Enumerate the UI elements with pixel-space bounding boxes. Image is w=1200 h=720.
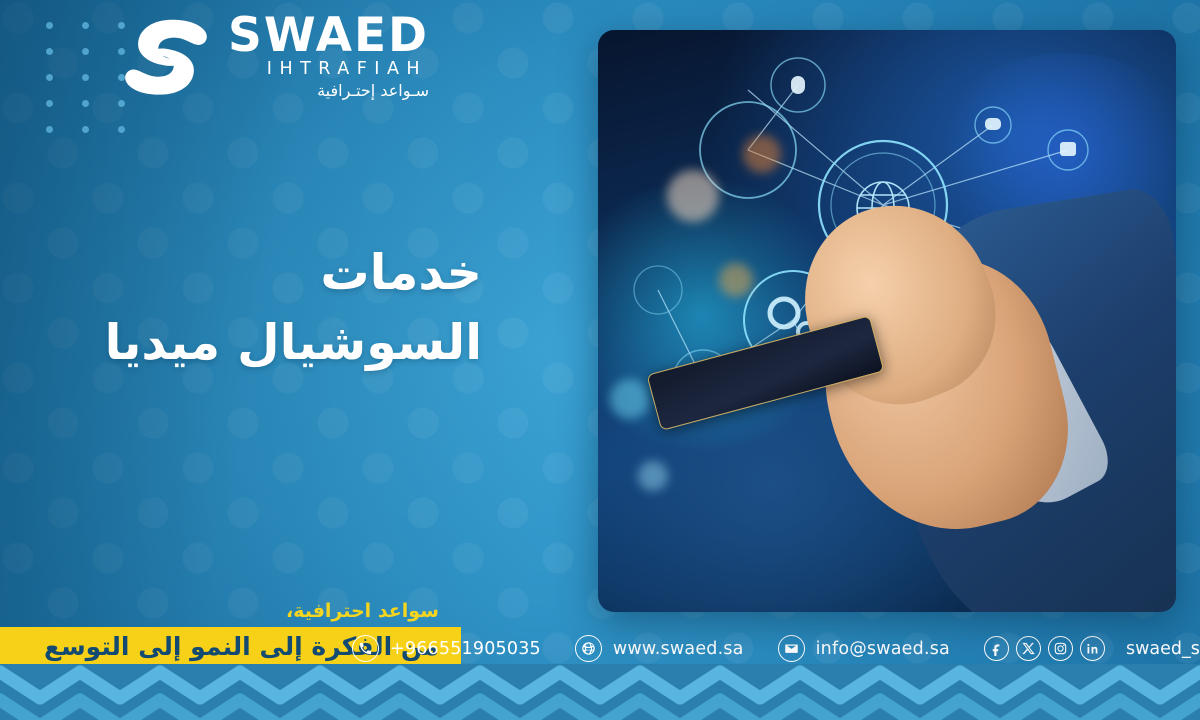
phone-number: +966551905035 xyxy=(390,639,541,659)
brand-subtitle-en: IHTRAFIAH xyxy=(267,59,429,81)
decorative-dot xyxy=(46,74,53,81)
phone-icon xyxy=(352,635,379,662)
linkedin-icon[interactable] xyxy=(1080,636,1105,661)
x-twitter-icon[interactable] xyxy=(1016,636,1041,661)
hero-photo xyxy=(598,30,1176,612)
interlocking-hands-s-logo-icon xyxy=(118,15,214,99)
chevron-pattern xyxy=(0,664,1200,720)
contact-social: swaed_sa xyxy=(984,636,1200,661)
decorative-dot xyxy=(82,126,89,133)
contact-phone[interactable]: +966551905035 xyxy=(352,635,541,662)
instagram-icon[interactable] xyxy=(1048,636,1073,661)
hand-holding-phone xyxy=(598,30,1176,612)
decorative-dot xyxy=(46,100,53,107)
decorative-dot xyxy=(46,126,53,133)
contact-email[interactable]: info@swaed.sa xyxy=(778,635,950,662)
email-address: info@swaed.sa xyxy=(816,639,950,659)
chevron-decoration-band xyxy=(0,664,1200,720)
brand-subtitle-ar: سـواعد إحتـرافية xyxy=(317,81,429,102)
decorative-dot xyxy=(118,126,125,133)
promotional-banner: SWAED IHTRAFIAH سـواعد إحتـرافية خدمات ا… xyxy=(0,0,1200,720)
headline: خدمات السوشيال ميديا xyxy=(105,238,482,377)
headline-line-2: السوشيال ميديا xyxy=(105,308,482,378)
brand-logo: SWAED IHTRAFIAH سـواعد إحتـرافية xyxy=(118,12,429,101)
facebook-icon[interactable] xyxy=(984,636,1009,661)
decorative-dot xyxy=(82,22,89,29)
decorative-dot xyxy=(82,100,89,107)
decorative-dot xyxy=(46,22,53,29)
envelope-icon xyxy=(778,635,805,662)
decorative-dot xyxy=(46,48,53,55)
social-icons xyxy=(984,636,1105,661)
website-url: www.swaed.sa xyxy=(613,639,744,659)
contact-bar: +966551905035 www.swaed.sa info@swaed.sa xyxy=(352,635,1200,662)
social-handle: swaed_sa xyxy=(1126,639,1200,659)
decorative-dot xyxy=(82,48,89,55)
globe-icon xyxy=(575,635,602,662)
headline-line-1: خدمات xyxy=(105,238,482,308)
brand-name: SWAED xyxy=(228,14,429,59)
decorative-dot xyxy=(82,74,89,81)
tagline-top-text: سواعد احترافية، xyxy=(0,600,461,627)
contact-website[interactable]: www.swaed.sa xyxy=(575,635,744,662)
